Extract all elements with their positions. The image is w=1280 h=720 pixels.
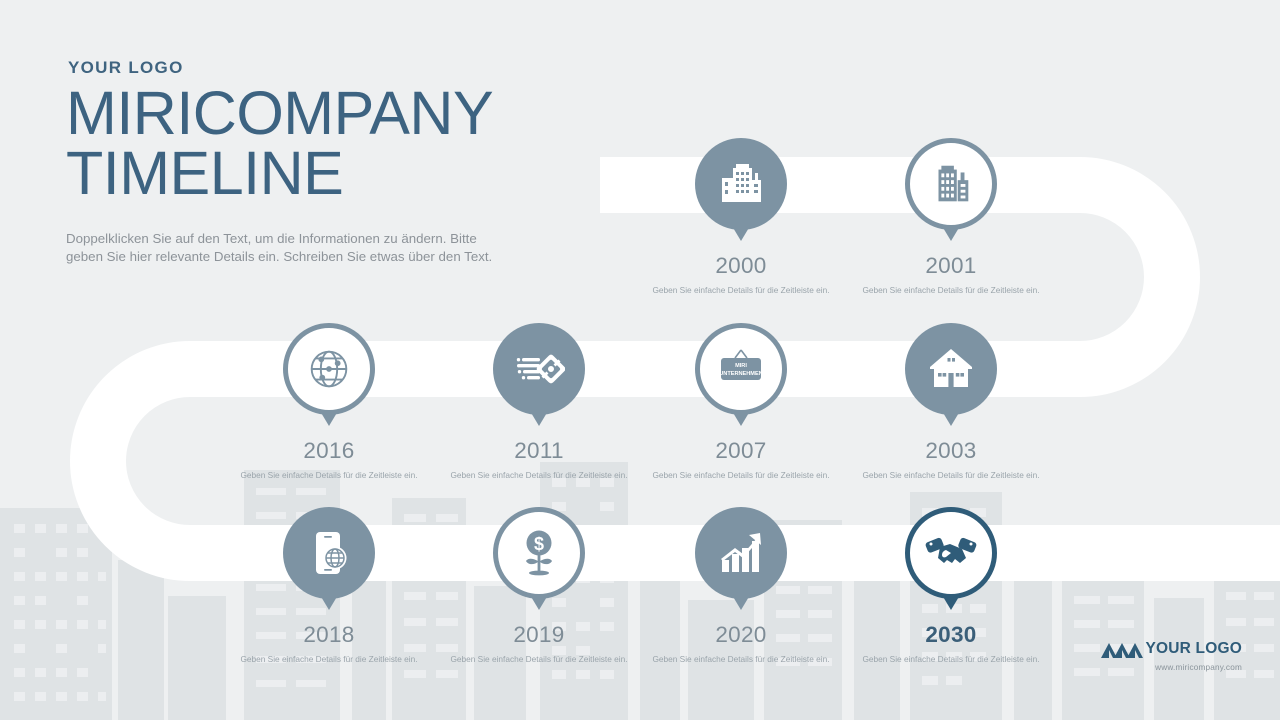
footer-logo-label: YOUR LOGO [1145, 640, 1242, 658]
node-year: 2016 [229, 438, 429, 464]
node-pin[interactable] [283, 507, 375, 599]
timeline-node-2019[interactable]: $ 2019 Geben Sie einfache Details für di… [439, 507, 639, 665]
node-description: Geben Sie einfache Details für die Zeitl… [851, 284, 1051, 296]
sign-line-2: UNTERNEHMEN [719, 371, 763, 377]
node-description: Geben Sie einfache Details für die Zeitl… [641, 469, 841, 481]
node-circle[interactable] [493, 323, 585, 415]
node-description: Geben Sie einfache Details für die Zeitl… [439, 469, 639, 481]
node-pointer [732, 595, 750, 610]
node-pin[interactable] [283, 323, 375, 415]
node-circle[interactable] [695, 138, 787, 230]
node-year: 2011 [439, 438, 639, 464]
node-pin[interactable]: $ [493, 507, 585, 599]
node-description: Geben Sie einfache Details für die Zeitl… [851, 653, 1051, 665]
node-pin[interactable] [695, 507, 787, 599]
node-pointer [942, 226, 960, 241]
node-circle[interactable]: MIRI UNTERNEHMEN [695, 323, 787, 415]
global-network-icon [304, 344, 354, 394]
fast-delivery-icon [513, 343, 565, 395]
footer-url: www.miricompany.com [1101, 663, 1242, 672]
node-pointer [530, 595, 548, 610]
title-line-2: TIMELINE [66, 144, 626, 204]
node-circle[interactable] [905, 138, 997, 230]
timeline-node-2003[interactable]: 2003 Geben Sie einfache Details für die … [851, 323, 1051, 481]
mobile-globe-icon [304, 527, 354, 579]
dollar-symbol: $ [534, 534, 544, 554]
node-circle[interactable] [283, 323, 375, 415]
node-pin[interactable]: MIRI UNTERNEHMEN [695, 323, 787, 415]
node-circle[interactable] [283, 507, 375, 599]
node-pointer [320, 411, 338, 426]
footer-logo[interactable]: YOUR LOGO www.miricompany.com [1101, 638, 1242, 672]
slide-canvas: YOUR LOGO MIRICOMPANY TIMELINE Doppelkli… [0, 0, 1280, 720]
node-pin[interactable] [493, 323, 585, 415]
brand-logo-label: YOUR LOGO [68, 58, 626, 78]
timeline-node-2001[interactable]: 2001 Geben Sie einfache Details für die … [851, 138, 1051, 296]
node-pin[interactable] [905, 138, 997, 230]
node-year: 2020 [641, 622, 841, 648]
subtitle-text: Doppelklicken Sie auf den Text, um die I… [66, 230, 496, 268]
node-pin[interactable] [905, 323, 997, 415]
slide-header: YOUR LOGO MIRICOMPANY TIMELINE Doppelkli… [66, 58, 626, 281]
node-description: Geben Sie einfache Details für die Zeitl… [229, 469, 429, 481]
node-circle[interactable] [905, 323, 997, 415]
node-year: 2019 [439, 622, 639, 648]
node-pointer [732, 226, 750, 241]
node-pointer [320, 595, 338, 610]
node-year: 2000 [641, 253, 841, 279]
node-pin[interactable] [905, 507, 997, 599]
sign-line-1: MIRI [735, 363, 747, 369]
page-title: MIRICOMPANY TIMELINE [66, 84, 626, 204]
timeline-node-2011[interactable]: 2011 Geben Sie einfache Details für die … [439, 323, 639, 481]
node-pointer [942, 411, 960, 426]
shop-sign-icon: MIRI UNTERNEHMEN [713, 344, 769, 394]
node-year: 2007 [641, 438, 841, 464]
node-pointer [942, 595, 960, 610]
handshake-icon [924, 531, 978, 575]
title-line-1: MIRICOMPANY [66, 79, 493, 147]
timeline-node-2030[interactable]: 2030 Geben Sie einfache Details für die … [851, 507, 1051, 665]
node-pointer [732, 411, 750, 426]
timeline-node-2018[interactable]: 2018 Geben Sie einfache Details für die … [229, 507, 429, 665]
node-description: Geben Sie einfache Details für die Zeitl… [641, 284, 841, 296]
node-description: Geben Sie einfache Details für die Zeitl… [229, 653, 429, 665]
timeline-node-2020[interactable]: 2020 Geben Sie einfache Details für die … [641, 507, 841, 665]
growth-chart-icon [715, 528, 767, 578]
node-description: Geben Sie einfache Details für die Zeitl… [851, 469, 1051, 481]
timeline-node-2007[interactable]: MIRI UNTERNEHMEN 2007 Geben Sie einfache… [641, 323, 841, 481]
node-year: 2018 [229, 622, 429, 648]
node-circle[interactable] [905, 507, 997, 599]
node-pointer [530, 411, 548, 426]
city-towers-icon [926, 159, 976, 209]
office-buildings-icon [715, 158, 767, 210]
node-description: Geben Sie einfache Details für die Zeitl… [439, 653, 639, 665]
timeline-node-2000[interactable]: 2000 Geben Sie einfache Details für die … [641, 138, 841, 296]
node-circle[interactable]: $ [493, 507, 585, 599]
node-pin[interactable] [695, 138, 787, 230]
node-description: Geben Sie einfache Details für die Zeitl… [641, 653, 841, 665]
mountain-logo-icon [1101, 638, 1143, 660]
node-circle[interactable] [695, 507, 787, 599]
money-plant-icon: $ [515, 527, 563, 579]
node-year: 2001 [851, 253, 1051, 279]
node-year: 2030 [851, 622, 1051, 648]
house-icon [924, 345, 978, 393]
node-year: 2003 [851, 438, 1051, 464]
timeline-node-2016[interactable]: 2016 Geben Sie einfache Details für die … [229, 323, 429, 481]
